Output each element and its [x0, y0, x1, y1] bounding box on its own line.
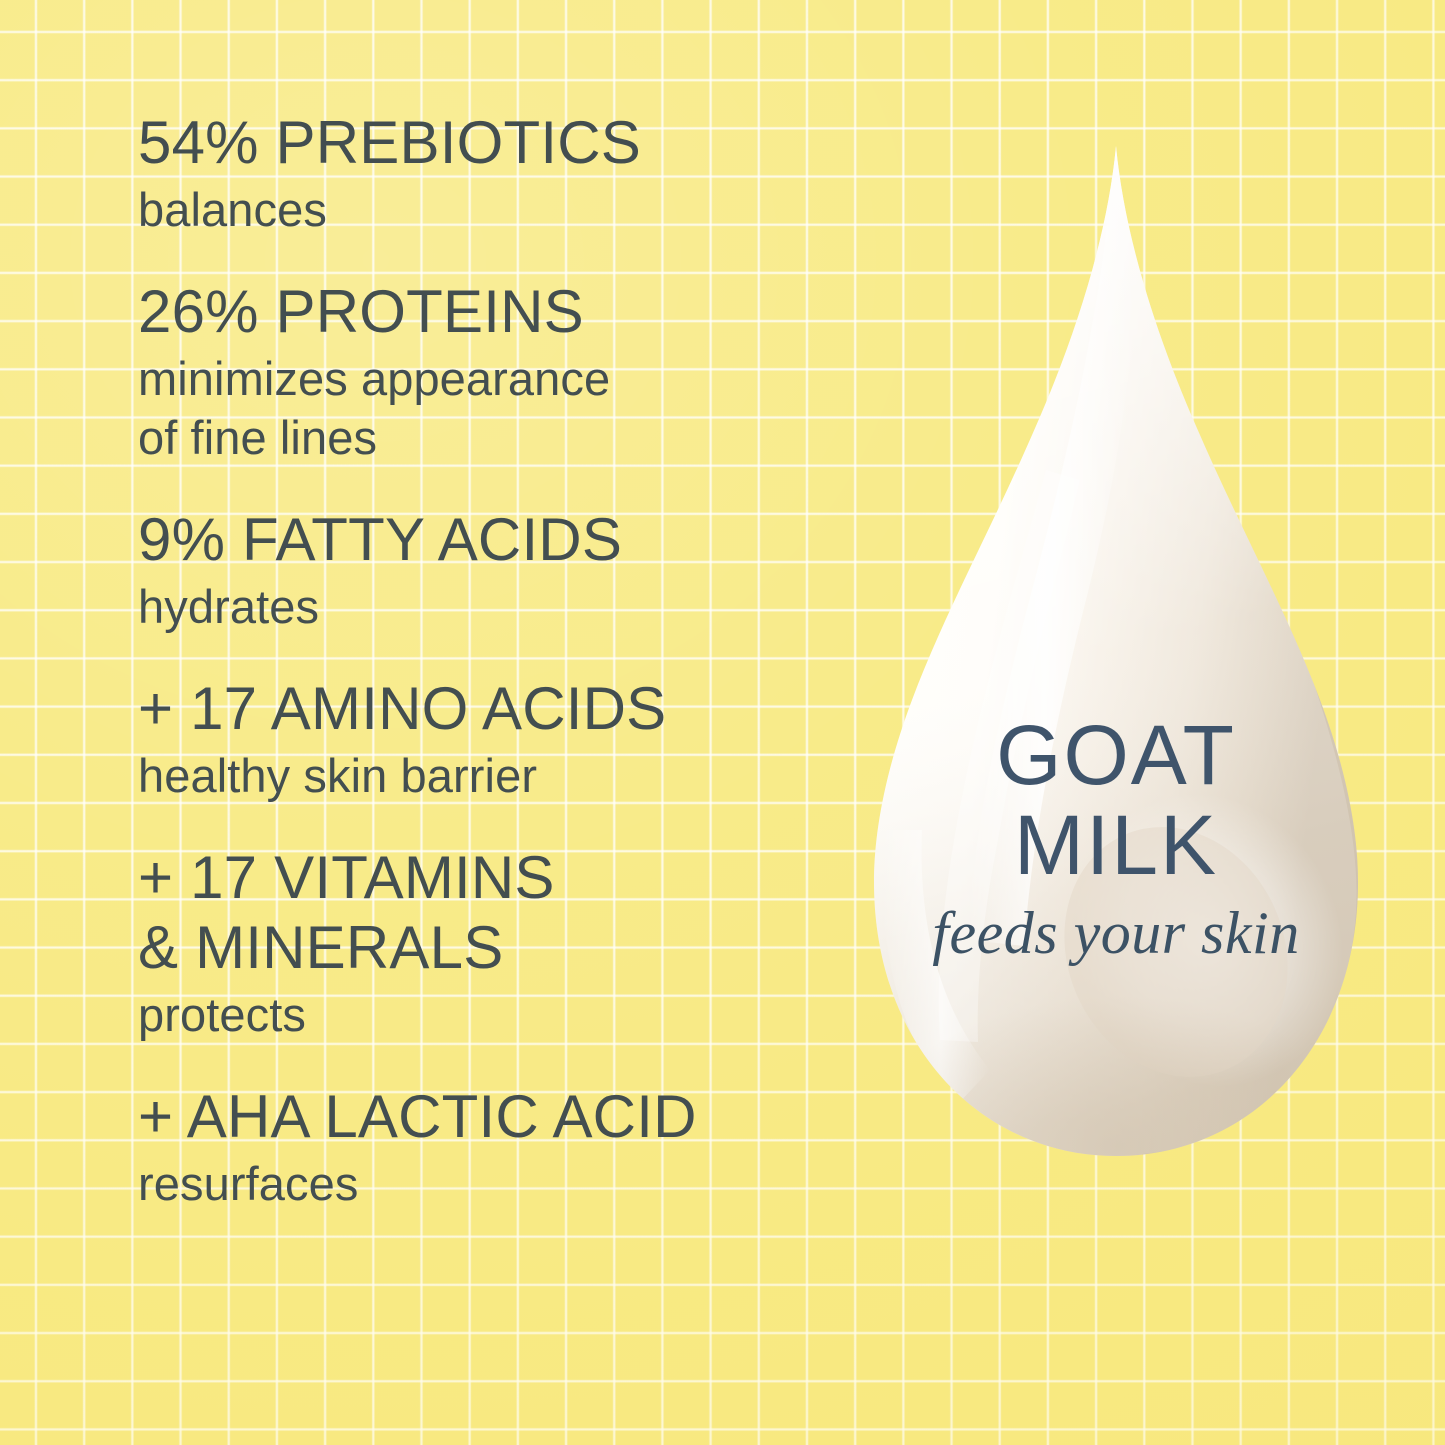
benefit-subtitle: protects [138, 985, 838, 1044]
benefit-title: 54% PREBIOTICS [138, 108, 838, 178]
benefit-subtitle: hydrates [138, 577, 838, 636]
benefit-item-amino-acids: + 17 AMINO ACIDS healthy skin barrier [138, 674, 838, 805]
benefit-title: + 17 AMINO ACIDS [138, 674, 838, 744]
benefit-item-proteins: 26% PROTEINS minimizes appearance of fin… [138, 277, 838, 467]
benefit-item-aha-lactic-acid: + AHA LACTIC ACID resurfaces [138, 1082, 838, 1213]
benefit-title: 9% FATTY ACIDS [138, 505, 838, 575]
benefit-item-prebiotics: 54% PREBIOTICS balances [138, 108, 838, 239]
benefit-subtitle: balances [138, 180, 838, 239]
benefit-title: + 17 VITAMINS & MINERALS [138, 843, 838, 983]
benefit-title: 26% PROTEINS [138, 277, 838, 347]
benefit-item-vitamins-minerals: + 17 VITAMINS & MINERALS protects [138, 843, 838, 1044]
benefit-item-fatty-acids: 9% FATTY ACIDS hydrates [138, 505, 838, 636]
milk-droplet-icon [836, 140, 1396, 1180]
benefit-subtitle: resurfaces [138, 1154, 838, 1213]
benefit-subtitle: minimizes appearance of fine lines [138, 349, 838, 467]
benefit-title: + AHA LACTIC ACID [138, 1082, 838, 1152]
benefit-subtitle: healthy skin barrier [138, 746, 838, 805]
benefits-list: 54% PREBIOTICS balances 26% PROTEINS min… [138, 108, 838, 1213]
goat-milk-benefits-graphic: 54% PREBIOTICS balances 26% PROTEINS min… [0, 0, 1445, 1445]
